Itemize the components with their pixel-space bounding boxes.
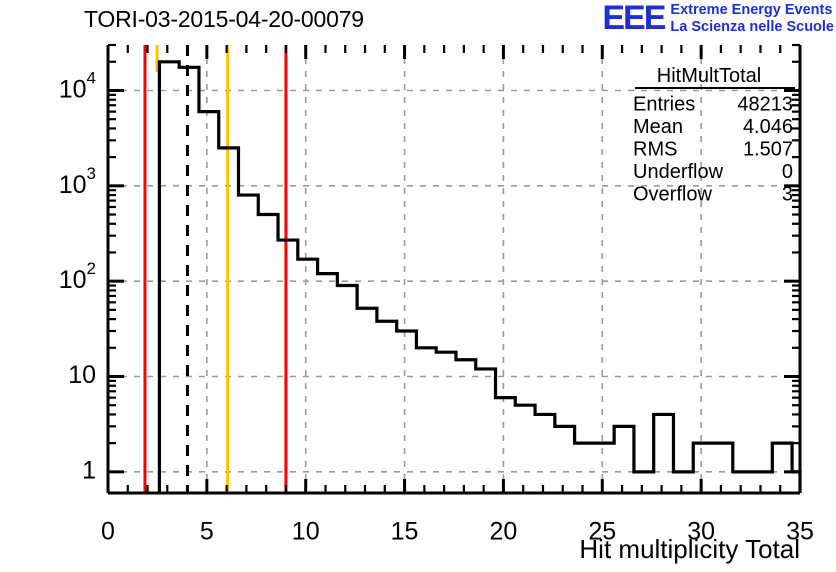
x-axis-title: Hit multiplicity Total [579,534,800,564]
stats-row-value: 0 [782,161,793,183]
x-tick-label: 20 [490,518,518,546]
stats-row-value: 3 [782,184,793,206]
root-canvas: TORI-03-2015-04-20-00079 EEE Extreme Ene… [0,0,836,572]
histogram-outline [159,62,800,493]
stats-row-value: 4.046 [743,116,793,138]
x-tick-label: 15 [391,518,419,546]
x-tick-label: 5 [200,518,214,546]
y-tick-label: 104 [59,69,96,103]
stats-row-label: Overflow [633,184,712,206]
stats-row-label: RMS [633,139,677,161]
stats-title: HitMultTotal [657,65,761,87]
y-tick-label: 1 [82,456,96,484]
stats-row-label: Entries [633,94,695,116]
stats-row-label: Mean [633,116,683,138]
y-tick-label: 10 [68,361,96,389]
y-tick-label: 102 [59,260,96,294]
stats-row-value: 48213 [737,94,793,116]
y-tick-label: 103 [59,164,96,198]
stats-box: HitMultTotalEntries48213Mean4.046RMS1.50… [633,65,795,206]
stats-row-value: 1.507 [743,139,793,161]
histogram-step-line [159,62,800,493]
stats-row-label: Underflow [633,161,724,183]
x-tick-label: 10 [292,518,320,546]
histogram-plot: 05101520253035110102103104 HitMultTotalE… [0,0,836,572]
x-tick-label: 0 [101,518,115,546]
